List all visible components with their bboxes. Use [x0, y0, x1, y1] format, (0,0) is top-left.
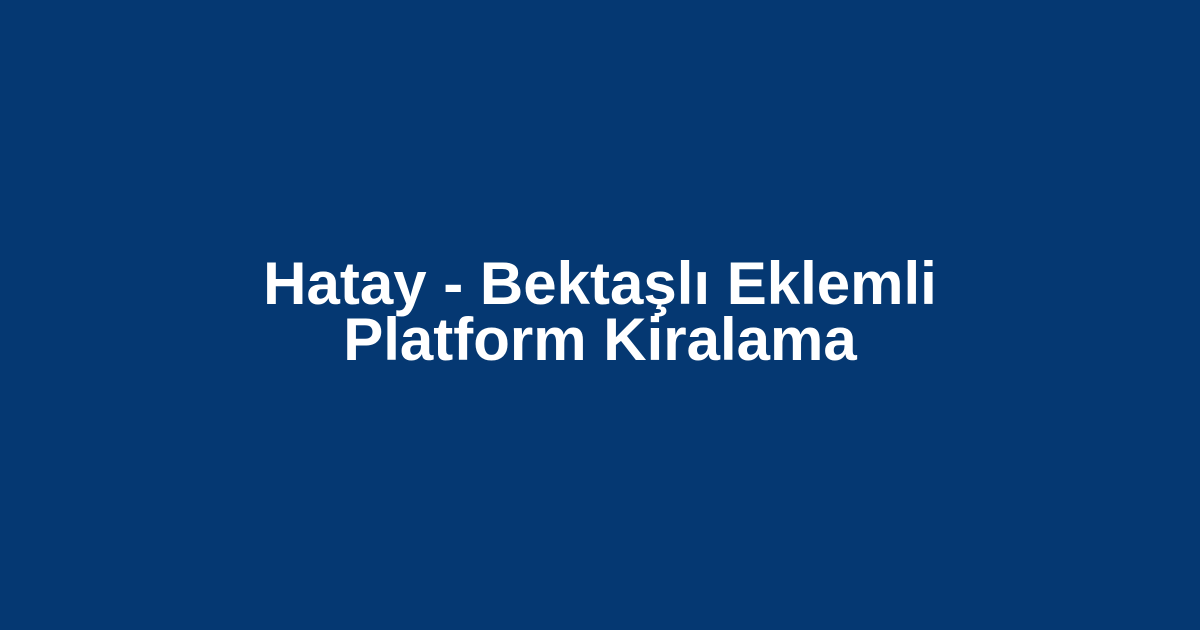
share-card: Hatay - Bektaşlı Eklemli Platform Kirala…	[0, 0, 1200, 630]
card-content: Hatay - Bektaşlı Eklemli Platform Kirala…	[0, 256, 1200, 368]
page-title: Hatay - Bektaşlı Eklemli Platform Kirala…	[170, 256, 1030, 368]
